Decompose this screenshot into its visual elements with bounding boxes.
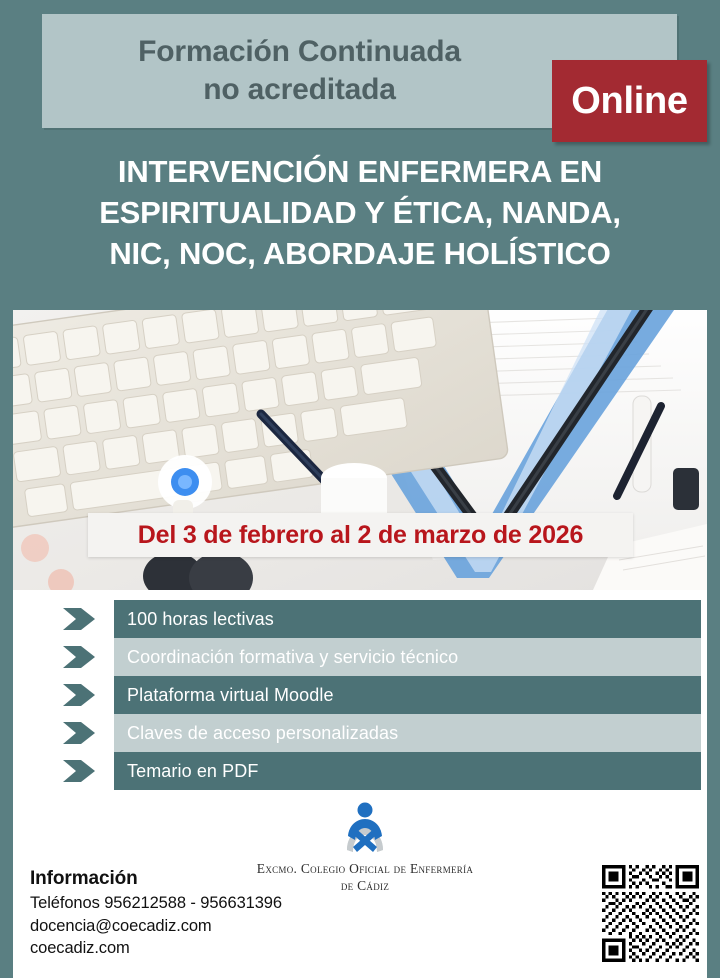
- list-item-label: Coordinación formativa y servicio técnic…: [127, 638, 458, 676]
- header-line-2: no acreditada: [203, 71, 395, 109]
- course-poster: Formación Continuada no acreditada Onlin…: [0, 0, 720, 978]
- contact-email[interactable]: docencia@coecadiz.com: [30, 915, 282, 938]
- online-badge-label: Online: [571, 80, 687, 123]
- list-item-label: Claves de acceso personalizadas: [127, 714, 398, 752]
- chevron-right-icon: [63, 684, 99, 706]
- contact-phones: Teléfonos 956212588 - 956631396: [30, 892, 282, 915]
- list-item-label: Temario en PDF: [127, 752, 258, 790]
- course-dates-text: Del 3 de febrero al 2 de marzo de 2026: [138, 521, 583, 550]
- chevron-right-icon: [63, 760, 99, 782]
- chevron-right-icon: [63, 646, 99, 668]
- title-line-3: NIC, NOC, ABORDAJE HOLÍSTICO: [20, 234, 700, 275]
- list-item: Claves de acceso personalizadas: [13, 714, 707, 752]
- feature-list: 100 horas lectivas Coordinación formativ…: [13, 600, 707, 790]
- list-item: Temario en PDF: [13, 752, 707, 790]
- contact-info: Información Teléfonos 956212588 - 956631…: [30, 868, 282, 960]
- list-item: 100 horas lectivas: [13, 600, 707, 638]
- title-line-2: ESPIRITUALIDAD Y ÉTICA, NANDA,: [20, 193, 700, 234]
- list-item: Plataforma virtual Moodle: [13, 676, 707, 714]
- organization-name-line-1: Excmo. Colegio Oficial de Enfermería: [257, 861, 473, 876]
- contact-heading: Información: [30, 868, 282, 890]
- list-item-label: Plataforma virtual Moodle: [127, 676, 334, 714]
- chevron-right-icon: [63, 722, 99, 744]
- course-dates-banner: Del 3 de febrero al 2 de marzo de 2026: [88, 513, 633, 557]
- title-line-1: INTERVENCIÓN ENFERMERA EN: [20, 152, 700, 193]
- nursing-college-figure-icon: [337, 800, 393, 856]
- chevron-right-icon: [63, 608, 99, 630]
- page-title: INTERVENCIÓN ENFERMERA EN ESPIRITUALIDAD…: [20, 152, 700, 275]
- online-badge: Online: [552, 60, 707, 142]
- header-line-1: Formación Continuada: [138, 33, 461, 71]
- list-item-label: 100 horas lectivas: [127, 600, 274, 638]
- list-item: Coordinación formativa y servicio técnic…: [13, 638, 707, 676]
- qr-code-image: [602, 865, 699, 962]
- contact-website[interactable]: coecadiz.com: [30, 937, 282, 960]
- qr-code[interactable]: [602, 865, 699, 962]
